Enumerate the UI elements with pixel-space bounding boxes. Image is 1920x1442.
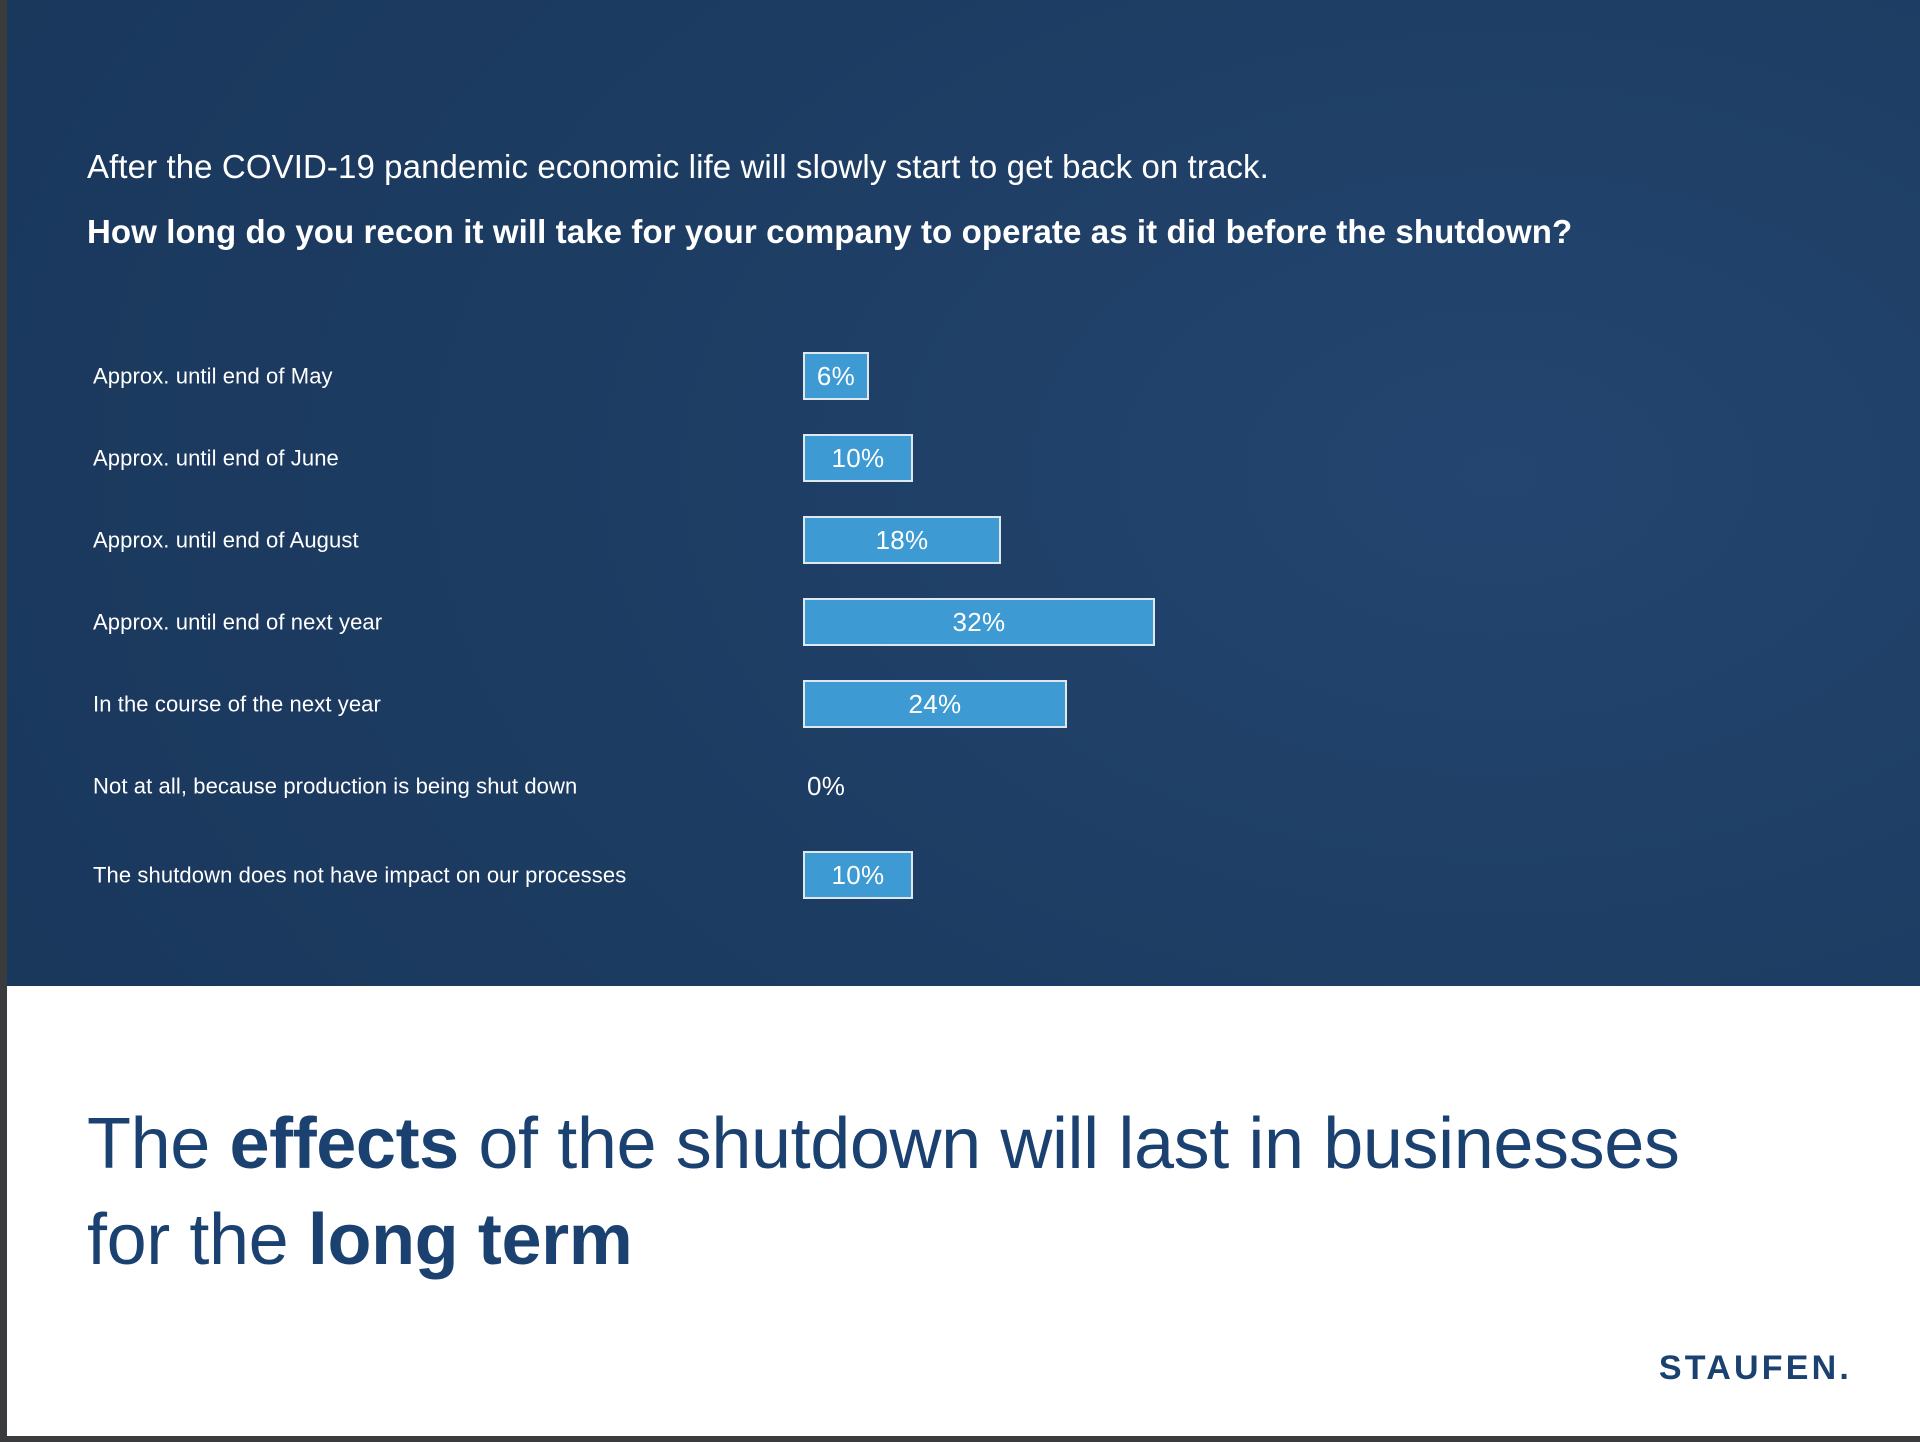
headline-segment-bold: long term xyxy=(308,1200,632,1280)
bar-category-label: Approx. until end of August xyxy=(93,525,733,556)
bar-track: 10% xyxy=(803,851,913,899)
bar-segment[interactable]: 24% xyxy=(803,680,1067,728)
chart-row: The shutdown does not have impact on our… xyxy=(87,827,1847,923)
headline-panel: The effects of the shutdown will last in… xyxy=(7,986,1920,1436)
page-title: The effects of the shutdown will last in… xyxy=(87,1096,1687,1288)
bar-category-label: Not at all, because production is being … xyxy=(93,771,733,802)
staufen-logo: STAUFEN. xyxy=(1659,1349,1852,1388)
bar-segment[interactable]: 6% xyxy=(803,352,869,400)
question-main-line: How long do you recon it will take for y… xyxy=(87,210,1847,254)
chart-row: Approx. until end of May 6% xyxy=(87,335,1847,417)
slide-root: After the COVID-19 pandemic economic lif… xyxy=(0,0,1920,1442)
chart-row: Approx. until end of August 18% xyxy=(87,499,1847,581)
bar-segment[interactable]: 32% xyxy=(803,598,1155,646)
chart-panel: After the COVID-19 pandemic economic lif… xyxy=(7,0,1920,986)
question-block: After the COVID-19 pandemic economic lif… xyxy=(87,145,1847,254)
bar-category-label: The shutdown does not have impact on our… xyxy=(93,860,733,891)
bar-segment[interactable]: 10% xyxy=(803,434,913,482)
bar-segment[interactable]: 10% xyxy=(803,851,913,899)
chart-row: Approx. until end of June 10% xyxy=(87,417,1847,499)
bar-track: 10% xyxy=(803,434,913,482)
question-intro-line: After the COVID-19 pandemic economic lif… xyxy=(87,145,1847,189)
bar-category-label: Approx. until end of June xyxy=(93,443,733,474)
bar-value-zero: 0% xyxy=(803,771,845,802)
chart-row: Not at all, because production is being … xyxy=(87,745,1847,827)
headline-segment: The xyxy=(87,1104,229,1184)
bar-chart: Approx. until end of May 6% Approx. unti… xyxy=(87,335,1847,923)
bar-track: 24% xyxy=(803,680,1067,728)
bar-track: 0% xyxy=(803,762,845,810)
bar-category-label: Approx. until end of next year xyxy=(93,607,733,638)
bar-category-label: Approx. until end of May xyxy=(93,361,733,392)
headline-segment-bold: effects xyxy=(229,1104,458,1184)
bar-track: 32% xyxy=(803,598,1155,646)
chart-row: Approx. until end of next year 32% xyxy=(87,581,1847,663)
chart-row: In the course of the next year 24% xyxy=(87,663,1847,745)
bar-category-label: In the course of the next year xyxy=(93,689,733,720)
bar-track: 18% xyxy=(803,516,1001,564)
bar-segment[interactable]: 18% xyxy=(803,516,1001,564)
bar-track: 6% xyxy=(803,352,869,400)
